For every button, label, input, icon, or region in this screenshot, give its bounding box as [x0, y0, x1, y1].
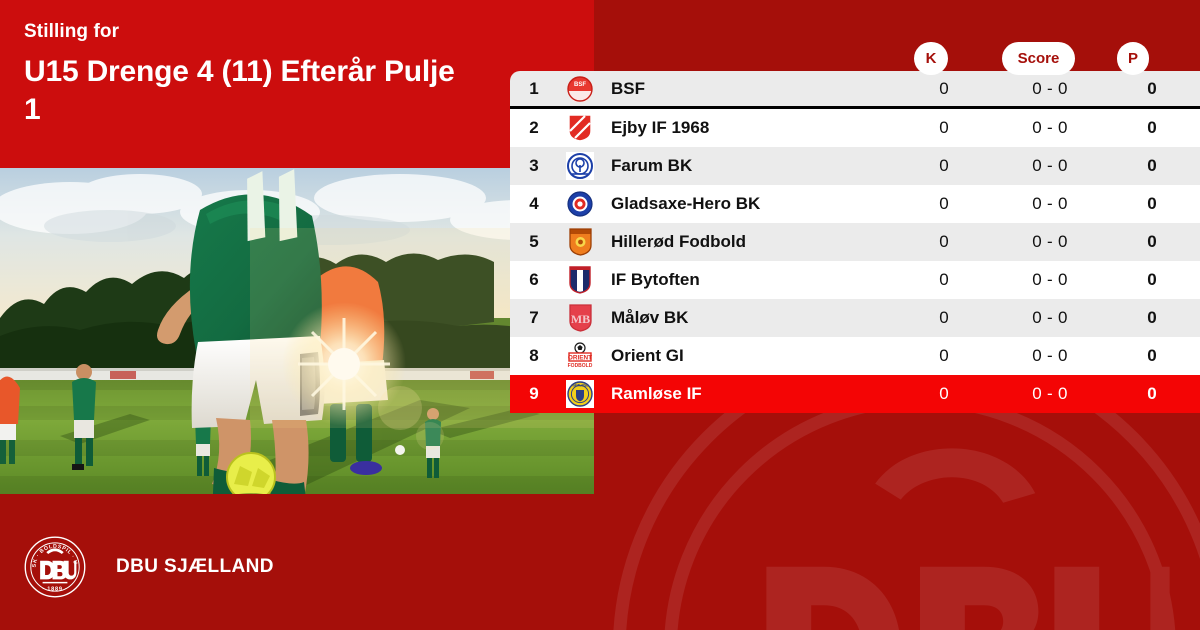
standings-graphic: Stilling for U15 Drenge 4 (11) Efterår P… [0, 0, 1200, 630]
column-header-p: P [1117, 42, 1149, 75]
row-rank: 6 [510, 270, 558, 290]
row-k: 0 [892, 118, 996, 138]
table-row[interactable]: 2 Ejby IF 1968 0 0 - 0 0 [510, 109, 1200, 147]
row-points: 0 [1104, 118, 1200, 138]
table-row[interactable]: 9 RAMLØSE Ramløse IF 0 0 - 0 0 [510, 375, 1200, 413]
table-row[interactable]: 4 Gladsaxe-Hero BK 0 0 - 0 0 [510, 185, 1200, 223]
farum-bk-logo [558, 152, 602, 180]
if-bytoften-logo [558, 266, 602, 294]
bsf-logo: BSF [558, 76, 602, 102]
row-points: 0 [1104, 270, 1200, 290]
row-points: 0 [1104, 346, 1200, 366]
row-points: 0 [1104, 194, 1200, 214]
row-points: 0 [1104, 384, 1200, 404]
row-team-name: Gladsaxe-Hero BK [602, 194, 892, 214]
row-score: 0 - 0 [996, 384, 1104, 404]
row-rank: 8 [510, 346, 558, 366]
header-band: Stilling for U15 Drenge 4 (11) Efterår P… [0, 0, 594, 168]
row-rank: 7 [510, 308, 558, 328]
row-points: 0 [1104, 156, 1200, 176]
row-team-name: Ramløse IF [602, 384, 892, 404]
row-rank: 3 [510, 156, 558, 176]
row-rank: 1 [510, 79, 558, 99]
table-row[interactable]: 7 MB Måløv BK 0 0 - 0 0 [510, 299, 1200, 337]
table-row[interactable]: 6 IF Bytoften 0 0 - 0 0 [510, 261, 1200, 299]
row-score: 0 - 0 [996, 270, 1104, 290]
dbu-crest-logo: DANSK · BOLDSPIL · UNION · 1889 · [24, 536, 86, 598]
row-rank: 4 [510, 194, 558, 214]
row-k: 0 [892, 384, 996, 404]
row-k: 0 [892, 232, 996, 252]
row-rank: 5 [510, 232, 558, 252]
row-score: 0 - 0 [996, 346, 1104, 366]
hillerod-logo [558, 228, 602, 256]
row-team-name: Måløv BK [602, 308, 892, 328]
table-row[interactable]: 5 Hillerød Fodbold 0 0 - 0 0 [510, 223, 1200, 261]
ejby-if-1968-logo [558, 114, 602, 142]
footer-organisation: DBU SJÆLLAND [116, 556, 274, 578]
row-team-name: BSF [602, 79, 892, 99]
column-header-k: K [914, 42, 948, 75]
row-points: 0 [1104, 232, 1200, 252]
row-score: 0 - 0 [996, 194, 1104, 214]
column-header-score: Score [1002, 42, 1075, 75]
row-team-name: Hillerød Fodbold [602, 232, 892, 252]
table-row[interactable]: 1 BSF BSF 0 0 - 0 0 [510, 71, 1200, 109]
row-k: 0 [892, 156, 996, 176]
svg-text:ORIENT: ORIENT [568, 355, 592, 362]
ramlose-if-logo: RAMLØSE [558, 380, 602, 408]
svg-text:RAMLØSE: RAMLØSE [572, 384, 590, 388]
row-points: 0 [1104, 79, 1200, 99]
row-score: 0 - 0 [996, 79, 1104, 99]
row-k: 0 [892, 270, 996, 290]
svg-text:MB: MB [570, 312, 589, 326]
row-rank: 2 [510, 118, 558, 138]
row-k: 0 [892, 308, 996, 328]
footer: DANSK · BOLDSPIL · UNION · 1889 · DBU SJ… [0, 504, 1200, 630]
svg-text:BSF: BSF [574, 82, 586, 88]
page-title: U15 Drenge 4 (11) Efterår Pulje 1 [24, 53, 464, 129]
malov-bk-logo: MB [558, 304, 602, 332]
table-row[interactable]: 8 ORIENT FODBOLD Orient GI 0 0 - 0 0 [510, 337, 1200, 375]
row-team-name: Ejby IF 1968 [602, 118, 892, 138]
gladsaxe-hero-logo [558, 191, 602, 217]
row-score: 0 - 0 [996, 156, 1104, 176]
header-kicker: Stilling for [24, 22, 594, 41]
table-row[interactable]: 3 Farum BK 0 0 - 0 0 [510, 147, 1200, 185]
row-k: 0 [892, 79, 996, 99]
row-score: 0 - 0 [996, 118, 1104, 138]
svg-text:· 1889 ·: · 1889 · [42, 587, 67, 593]
row-score: 0 - 0 [996, 232, 1104, 252]
row-team-name: Farum BK [602, 156, 892, 176]
row-score: 0 - 0 [996, 308, 1104, 328]
row-k: 0 [892, 346, 996, 366]
row-k: 0 [892, 194, 996, 214]
svg-text:FODBOLD: FODBOLD [568, 363, 593, 369]
standings-table: 1 BSF BSF 0 0 - 0 0 2 [510, 71, 1200, 413]
orient-gi-logo: ORIENT FODBOLD [558, 342, 602, 370]
row-points: 0 [1104, 308, 1200, 328]
row-rank: 9 [510, 384, 558, 404]
row-team-name: IF Bytoften [602, 270, 892, 290]
row-team-name: Orient GI [602, 346, 892, 366]
hero-photo [0, 168, 594, 494]
